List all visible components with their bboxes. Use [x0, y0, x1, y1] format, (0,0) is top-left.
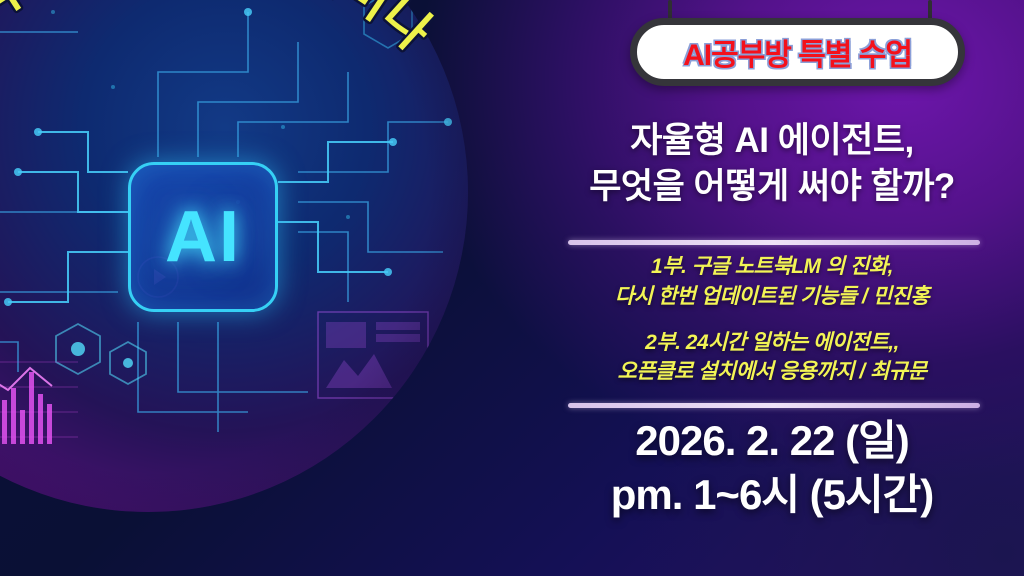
special-class-badge-label: AI공부방 특별 수업: [683, 30, 912, 74]
headline-line-1: 자율형 AI 에이전트,: [520, 118, 1024, 164]
circuit-board-icon: 1 00->OB SAR IK.OkOGO1 DIETE OTTRS1 9HCI…: [0, 0, 468, 512]
session-1-line-1: 1부. 구글 노트북LM 의 진화,: [520, 252, 1024, 282]
chip-label: AI: [165, 196, 241, 278]
session-2-line-1: 2부. 24시간 일하는 에이전트,,: [520, 328, 1024, 358]
ai-chip-graphic: AI: [128, 162, 278, 312]
session-part-2: 2부. 24시간 일하는 에이전트,, 오픈클로 설치에서 응용까지 / 최규문: [520, 328, 1024, 388]
hanging-sign: AI공부방 특별 수업: [520, 0, 1024, 110]
special-class-badge: AI공부방 특별 수업: [630, 18, 965, 86]
ai-circuit-artwork: 1 00->OB SAR IK.OkOGO1 DIETE OTTRS1 9HCI…: [0, 0, 468, 512]
data-bar-chart-decoration: [0, 342, 78, 452]
session-1-line-2: 다시 한번 업데이트된 기능들 / 민진홍: [520, 282, 1024, 312]
event-time: pm. 1~6시 (5시간): [520, 468, 1024, 522]
divider-top: [568, 240, 980, 245]
session-list: 1부. 구글 노트북LM 의 진화, 다시 한번 업데이트된 기능들 / 민진홍…: [520, 252, 1024, 403]
event-date: 2026. 2. 22 (일): [520, 414, 1024, 468]
info-panel: AI공부방 특별 수업 자율형 AI 에이전트, 무엇을 어떻게 써야 할까? …: [520, 0, 1024, 576]
headline-line-2: 무엇을 어떻게 써야 할까?: [520, 164, 1024, 210]
headline: 자율형 AI 에이전트, 무엇을 어떻게 써야 할까?: [520, 118, 1024, 210]
divider-bottom: [568, 403, 980, 408]
schedule-block: 2026. 2. 22 (일) pm. 1~6시 (5시간): [520, 414, 1024, 522]
seminar-poster: 1 00->OB SAR IK.OkOGO1 DIETE OTTRS1 9HCI…: [0, 0, 1024, 576]
session-part-1: 1부. 구글 노트북LM 의 진화, 다시 한번 업데이트된 기능들 / 민진홍: [520, 252, 1024, 312]
session-2-line-2: 오픈클로 설치에서 응용까지 / 최규문: [520, 357, 1024, 387]
